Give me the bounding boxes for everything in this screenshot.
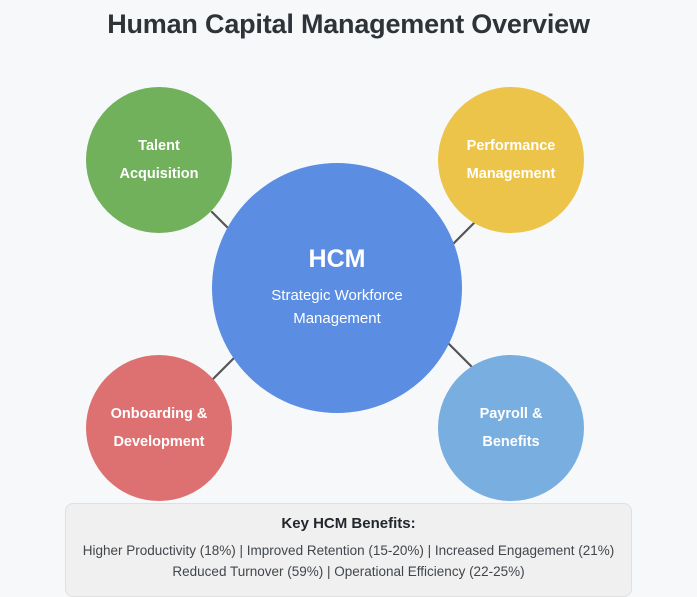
node-payroll-benefits[interactable]: Payroll & Benefits xyxy=(438,355,584,501)
node-label-payroll-benefits: Payroll & Benefits xyxy=(480,400,543,457)
node-performance-management[interactable]: Performance Management xyxy=(438,87,584,233)
hcm-diagram: Human Capital Management Overview Talent… xyxy=(0,0,697,591)
node-label-talent-acquisition: Talent Acquisition xyxy=(120,132,199,189)
node-label-onboarding-development: Onboarding & Development xyxy=(111,400,208,457)
node-onboarding-development[interactable]: Onboarding & Development xyxy=(86,355,232,501)
node-talent-acquisition[interactable]: Talent Acquisition xyxy=(86,87,232,233)
hub-subtitle: Strategic Workforce Management xyxy=(250,284,425,331)
node-label-line2: Management xyxy=(467,166,556,182)
node-label-performance-management: Performance Management xyxy=(467,132,556,189)
node-label-line1: Talent xyxy=(138,138,180,154)
node-label-line1: Payroll & xyxy=(480,406,543,422)
benefits-line-1: Higher Productivity (18%) | Improved Ret… xyxy=(80,541,617,562)
node-label-line2: Acquisition xyxy=(120,166,199,182)
node-label-line2: Benefits xyxy=(482,434,539,450)
hub-title: HCM xyxy=(309,246,366,274)
benefits-panel: Key HCM Benefits: Higher Productivity (1… xyxy=(65,503,632,597)
node-hcm-hub[interactable]: HCM Strategic Workforce Management xyxy=(212,163,462,413)
node-label-line1: Onboarding & xyxy=(111,406,208,422)
benefits-line-2: Reduced Turnover (59%) | Operational Eff… xyxy=(80,562,617,583)
node-label-line2: Development xyxy=(113,434,204,450)
benefits-heading: Key HCM Benefits: xyxy=(80,515,617,532)
node-label-line1: Performance xyxy=(467,138,556,154)
